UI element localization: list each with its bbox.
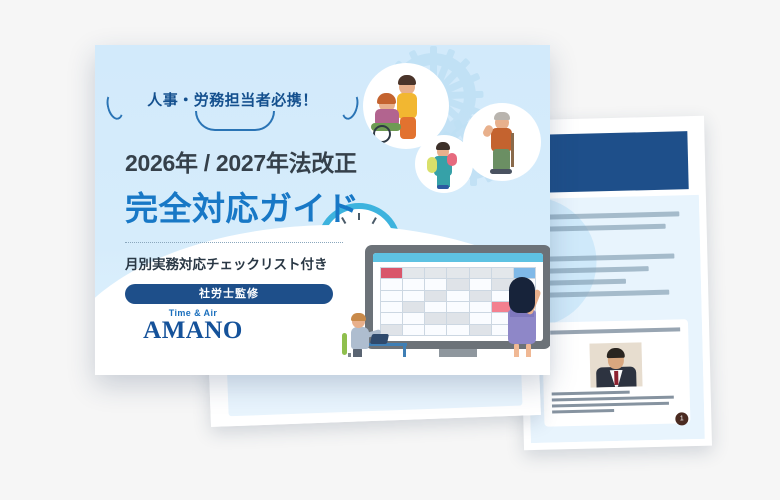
cover-text-block: 人事・労務担当者必携！ 2026年 / 2027年法改正 完全対応ガイド 月別実…: [125, 89, 385, 304]
back-page-header-bar: [533, 131, 688, 193]
cover-subtitle: 月別実務対応チェックリスト付き: [125, 253, 385, 273]
amano-logo[interactable]: Time & Air AMANO: [133, 308, 253, 343]
text-line: [541, 266, 649, 274]
caption-line: [552, 391, 630, 396]
ribbon-tail-icon: [195, 111, 275, 131]
text-line: [540, 224, 666, 232]
supervisor-note-line: [550, 327, 680, 334]
back-page-paragraph-block-2: [540, 253, 687, 305]
supervisor-card: [542, 319, 690, 427]
text-line: [541, 290, 670, 298]
cover-page[interactable]: ✓ ✓ ✓ ✓: [95, 45, 550, 375]
supervisor-photo: [589, 342, 642, 387]
cover-main-title: 完全対応ガイド: [125, 182, 385, 230]
back-page-inner: 1: [523, 123, 705, 443]
cover-bottom-band: [95, 357, 550, 375]
caption-line: [552, 409, 614, 414]
illustration-bubble-senior: [463, 103, 541, 181]
photo-hair: [607, 348, 625, 358]
logo-brand: AMANO: [133, 318, 253, 343]
screenshot-canvas: 1 第7章 総合チェックリスト 30 第8章 社内体制整備のポイント 32 参考: [0, 0, 780, 500]
app-top-bar: [373, 253, 543, 262]
caption-line: [552, 402, 669, 408]
catchphrase-ribbon: 人事・労務担当者必携！: [125, 89, 340, 110]
brace-right-icon: [339, 90, 361, 121]
dotted-divider: [125, 242, 343, 243]
caption-line: [552, 396, 674, 402]
cover-year-line: 2026年 / 2027年法改正: [125, 144, 385, 178]
photo-tie: [614, 371, 618, 385]
catchphrase-text: 人事・労務担当者必携！: [147, 92, 318, 109]
back-page-paragraph-block-1: [539, 211, 686, 239]
text-line: [541, 279, 626, 286]
supervision-badge: 社労士監修: [125, 284, 333, 304]
supervisor-caption: [552, 389, 683, 416]
